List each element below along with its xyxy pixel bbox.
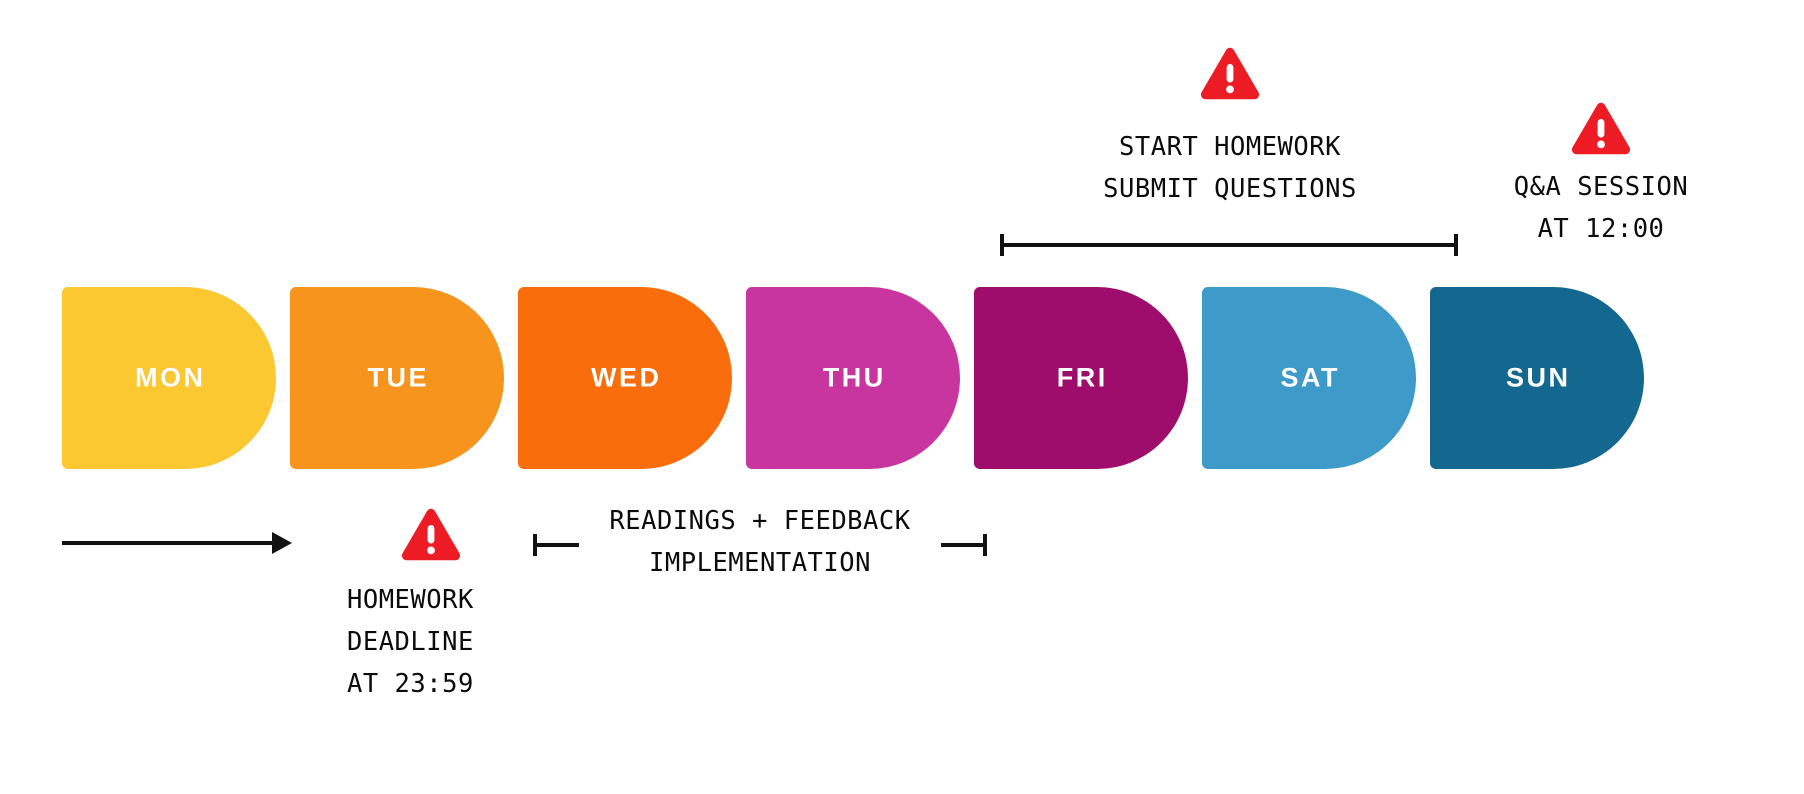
day-block-sun[interactable]: SUN	[1430, 287, 1644, 469]
day-label-tue: TUE	[290, 365, 504, 392]
day-label-fri: FRI	[974, 365, 1188, 392]
annotation-readings-line2: IMPLEMENTATION	[520, 542, 1000, 584]
day-ribbon: MON TUE WED THU FRI SAT SUN	[62, 287, 1754, 469]
day-block-mon[interactable]: MON	[62, 287, 276, 469]
warning-triangle-icon-qa-session	[1570, 101, 1632, 157]
bracket-rule	[1002, 243, 1456, 247]
arrow-shaft	[62, 541, 274, 545]
day-label-sun: SUN	[1430, 365, 1644, 392]
bracket-rule-left	[535, 543, 579, 547]
bracket-readings-left	[533, 533, 579, 557]
day-block-tue[interactable]: TUE	[290, 287, 504, 469]
warning-triangle-icon-start-homework	[1199, 46, 1261, 102]
day-block-fri[interactable]: FRI	[974, 287, 1188, 469]
day-label-sat: SAT	[1202, 365, 1416, 392]
day-label-thu: THU	[746, 365, 960, 392]
day-block-wed[interactable]: WED	[518, 287, 732, 469]
annotation-homework-deadline-text: HOMEWORK DEADLINE AT 23:59	[347, 579, 647, 705]
day-label-mon: MON	[62, 365, 276, 392]
day-block-thu[interactable]: THU	[746, 287, 960, 469]
bracket-cap-right	[983, 534, 987, 556]
bracket-start-homework	[1000, 233, 1458, 257]
annotation-qa-session-text: Q&A SESSION AT 12:00	[1441, 166, 1761, 250]
day-block-sat[interactable]: SAT	[1202, 287, 1416, 469]
bracket-rule-right	[941, 543, 985, 547]
arrow-head-icon	[272, 532, 292, 554]
annotation-readings-line1: READINGS + FEEDBACK	[520, 500, 1000, 542]
warning-triangle-icon-homework-deadline	[400, 507, 462, 563]
bracket-readings-right	[941, 533, 987, 557]
weekly-timeline-diagram: START HOMEWORK SUBMIT QUESTIONS Q&A SESS…	[0, 0, 1804, 794]
day-label-wed: WED	[518, 365, 732, 392]
annotation-start-homework-text: START HOMEWORK SUBMIT QUESTIONS	[990, 126, 1470, 210]
